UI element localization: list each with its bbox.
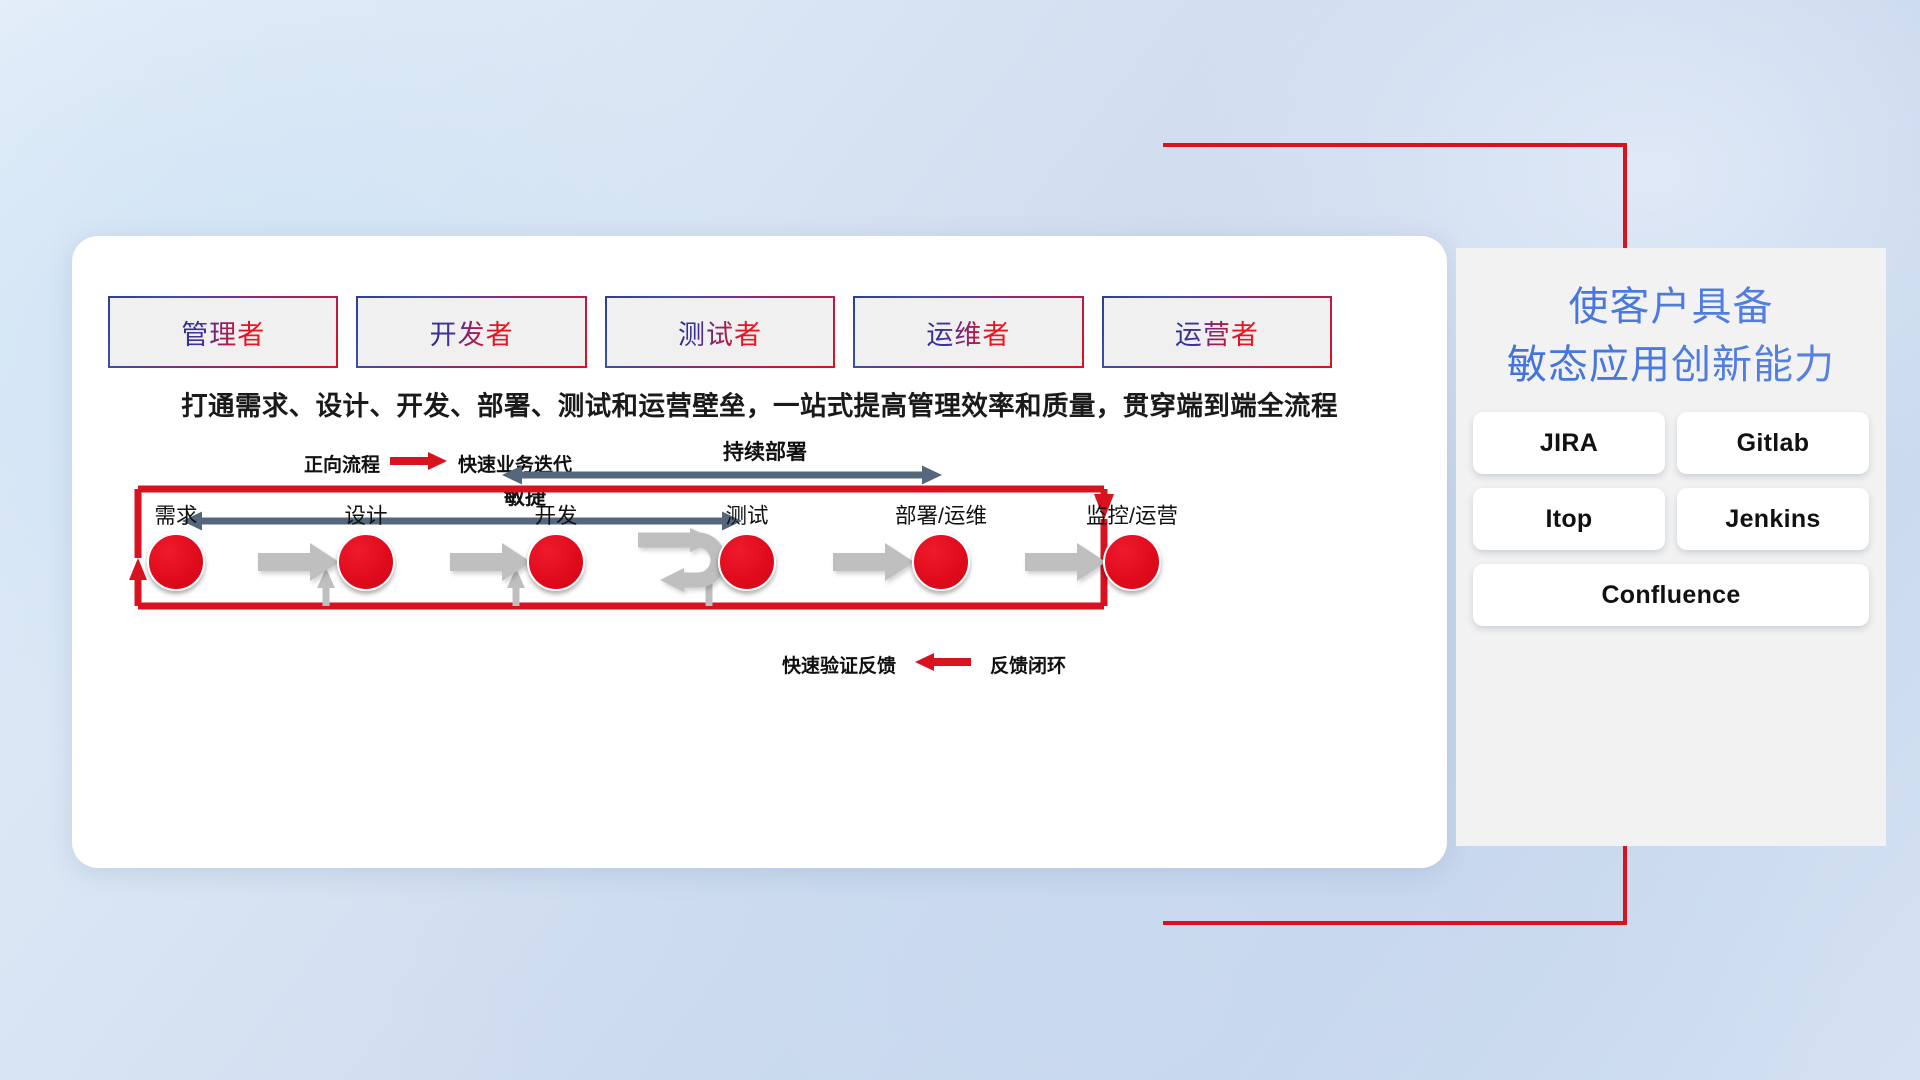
span-arrow-label-continuous-deployment: 持续部署 bbox=[723, 436, 807, 466]
stage-label: 监控/运营 bbox=[1066, 502, 1198, 530]
panel-title-line-2: 敏态应用创新能力 bbox=[1456, 336, 1886, 394]
pipeline-stage-monitor-operations[interactable]: 监控/运营 bbox=[1066, 502, 1198, 591]
stage-label: 设计 bbox=[300, 502, 432, 530]
devops-flow-card: 管理者 开发者 测试者 运维者 运营者 bbox=[72, 236, 1447, 868]
role-label: 运维者 bbox=[926, 313, 1010, 352]
panel-title: 使客户具备 敏态应用创新能力 bbox=[1456, 248, 1886, 394]
role-box-operations-inner: 运营者 bbox=[1104, 298, 1330, 366]
role-label: 运营者 bbox=[1175, 313, 1259, 352]
stage-label: 测试 bbox=[681, 502, 813, 530]
span-arrow-continuous-deployment bbox=[502, 464, 942, 486]
slide-canvas: 管理者 开发者 测试者 运维者 运营者 bbox=[0, 0, 1920, 1080]
tool-badge-itop[interactable]: Itop bbox=[1473, 488, 1665, 550]
legend-forward-left-label: 正向流程 bbox=[304, 450, 380, 477]
role-box-manager-inner: 管理者 bbox=[110, 298, 336, 366]
role-box-developer[interactable]: 开发者 bbox=[358, 298, 584, 366]
stage-dot bbox=[527, 533, 585, 591]
role-box-developer-inner: 开发者 bbox=[358, 298, 584, 366]
stage-dot bbox=[912, 533, 970, 591]
pipeline-stage-design[interactable]: 设计 bbox=[300, 502, 432, 591]
tool-badge-grid: JIRA Gitlab Itop Jenkins Confluence bbox=[1464, 412, 1878, 626]
role-box-ops[interactable]: 运维者 bbox=[855, 298, 1081, 366]
devops-pipeline: 需求 设计 开发 bbox=[110, 502, 1410, 632]
role-label: 管理者 bbox=[181, 313, 265, 352]
tool-badge-jenkins[interactable]: Jenkins bbox=[1677, 488, 1869, 550]
tool-badge-confluence[interactable]: Confluence bbox=[1473, 564, 1869, 626]
role-box-row: 管理者 开发者 测试者 运维者 运营者 bbox=[110, 298, 1330, 366]
value-proposition-panel: 使客户具备 敏态应用创新能力 JIRA Gitlab Itop Jenkins … bbox=[1456, 248, 1886, 846]
pipeline-stage-development[interactable]: 开发 bbox=[490, 502, 622, 591]
legend-feedback-right-label: 反馈闭环 bbox=[990, 651, 1066, 678]
stage-dot bbox=[1103, 533, 1161, 591]
stage-label: 需求 bbox=[110, 502, 242, 530]
role-box-tester-inner: 测试者 bbox=[607, 298, 833, 366]
role-box-tester[interactable]: 测试者 bbox=[607, 298, 833, 366]
role-label: 测试者 bbox=[678, 313, 762, 352]
arrow-right-red-icon bbox=[390, 451, 448, 476]
pipeline-stage-requirements[interactable]: 需求 bbox=[110, 502, 242, 591]
stage-label: 部署/运维 bbox=[875, 502, 1007, 530]
pipeline-stage-deploy-ops[interactable]: 部署/运维 bbox=[875, 502, 1007, 591]
stage-dot bbox=[337, 533, 395, 591]
role-box-ops-inner: 运维者 bbox=[855, 298, 1081, 366]
tool-badge-jira[interactable]: JIRA bbox=[1473, 412, 1665, 474]
tool-badge-gitlab[interactable]: Gitlab bbox=[1677, 412, 1869, 474]
role-box-operations[interactable]: 运营者 bbox=[1104, 298, 1330, 366]
panel-title-line-1: 使客户具备 bbox=[1456, 278, 1886, 336]
role-box-manager[interactable]: 管理者 bbox=[110, 298, 336, 366]
role-label: 开发者 bbox=[430, 313, 514, 352]
stage-label: 开发 bbox=[490, 502, 622, 530]
pipeline-stage-testing[interactable]: 测试 bbox=[681, 502, 813, 591]
card-description: 打通需求、设计、开发、部署、测试和运营壁垒，一站式提高管理效率和质量，贯穿端到端… bbox=[72, 384, 1447, 423]
stage-dot bbox=[147, 533, 205, 591]
legend-feedback-loop: 快速验证反馈 反馈闭环 bbox=[782, 651, 1066, 678]
stage-dot bbox=[718, 533, 776, 591]
arrow-left-red-icon bbox=[914, 652, 972, 677]
legend-feedback-left-label: 快速验证反馈 bbox=[782, 651, 896, 678]
